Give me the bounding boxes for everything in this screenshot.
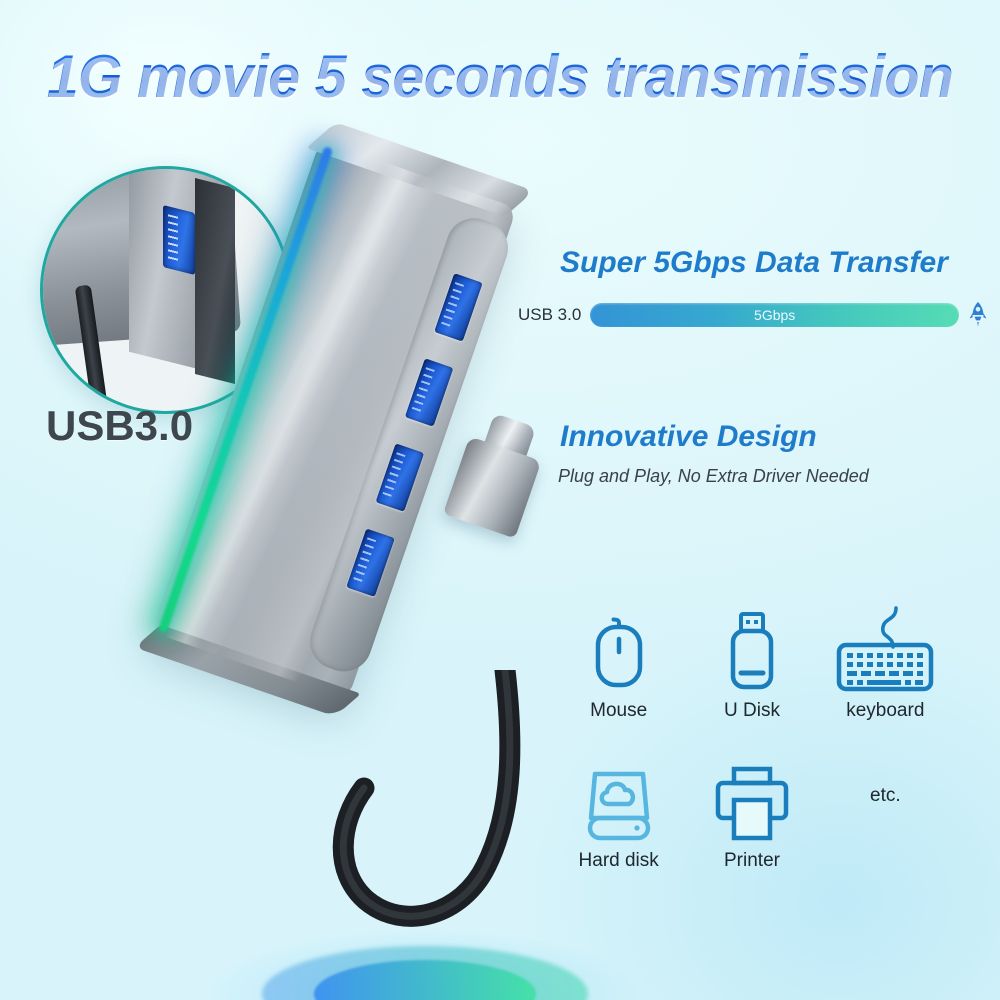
keyboard-icon	[833, 600, 937, 692]
product-marketing-image: 1G movie 5 seconds transmission USB3.0	[0, 0, 1000, 1000]
mouse-icon	[588, 600, 650, 692]
usb-a-port-2	[405, 358, 454, 426]
etc-label: etc.	[870, 785, 901, 807]
product-illustration	[150, 150, 580, 890]
speed-bar-value: 5Gbps	[754, 307, 795, 323]
speed-progress-bar: 5Gbps	[590, 303, 959, 327]
rocket-icon	[968, 301, 988, 329]
device-label: keyboard	[846, 700, 924, 722]
device-label: Printer	[724, 850, 780, 872]
etc-placeholder: etc.	[870, 750, 901, 842]
device-item-udisk: U Disk	[685, 600, 818, 722]
device-label: U Disk	[724, 700, 780, 722]
page-title: 1G movie 5 seconds transmission	[0, 42, 1000, 112]
compatible-devices-grid: Mouse U Disk	[552, 600, 952, 872]
usb-a-port-1	[434, 273, 483, 341]
device-item-mouse: Mouse	[552, 600, 685, 722]
device-item-etc: etc.	[819, 750, 952, 872]
device-item-printer: Printer	[685, 750, 818, 872]
usb-flash-drive-icon	[722, 600, 782, 692]
device-item-keyboard: keyboard	[819, 600, 952, 722]
feature-title-innovative-design: Innovative Design	[560, 420, 817, 454]
speed-bar-row: USB 3.0 5Gbps	[518, 298, 988, 332]
device-label: Mouse	[590, 700, 647, 722]
printer-icon	[713, 750, 791, 842]
device-label: Hard disk	[579, 850, 659, 872]
feature-title-data-transfer: Super 5Gbps Data Transfer	[560, 246, 948, 280]
hard-disk-icon	[581, 750, 657, 842]
device-item-hard-disk: Hard disk	[552, 750, 685, 872]
hub-cable	[300, 670, 550, 1000]
usb-a-port-3	[376, 443, 425, 511]
usb-a-port-4	[346, 528, 395, 596]
speed-bar-label: USB 3.0	[518, 305, 581, 325]
feature-subtitle-plug-and-play: Plug and Play, No Extra Driver Needed	[558, 466, 869, 487]
